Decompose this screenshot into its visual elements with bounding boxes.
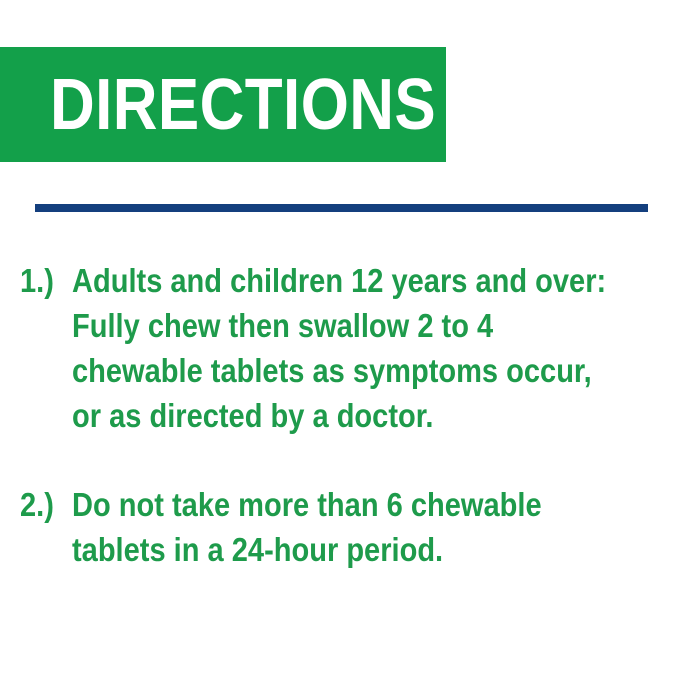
list-item: 1.) Adults and children 12 years and ove… <box>0 258 700 438</box>
list-item-marker: 1.) <box>20 258 66 303</box>
list-item-marker: 2.) <box>20 482 66 527</box>
list-item: 2.) Do not take more than 6 chewable tab… <box>0 482 700 572</box>
page-title: DIRECTIONS <box>50 69 436 141</box>
directions-list: 1.) Adults and children 12 years and ove… <box>0 258 700 616</box>
directions-label-panel: DIRECTIONS 1.) Adults and children 12 ye… <box>0 0 700 700</box>
directions-header-banner: DIRECTIONS <box>0 47 446 162</box>
list-item-text: Do not take more than 6 chewable tablets… <box>72 482 625 572</box>
header-divider-rule <box>35 204 648 212</box>
list-item-text: Adults and children 12 years and over: F… <box>72 258 625 438</box>
